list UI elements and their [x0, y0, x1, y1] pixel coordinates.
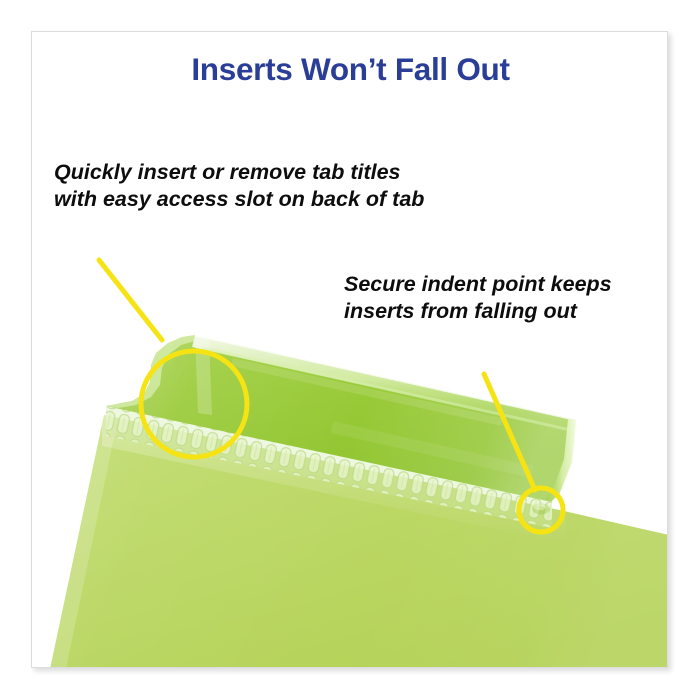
highlight-circle-indent-point	[519, 488, 563, 532]
leader-line-indent-point	[484, 374, 535, 490]
screenshot-canvas: Inserts Won’t Fall Out Quickly insert or…	[0, 0, 700, 700]
highlight-circle-access-slot	[141, 351, 247, 457]
annotation-overlay	[32, 32, 668, 668]
leader-line-access-slot	[99, 260, 162, 340]
annotation-marker-access-slot	[99, 260, 247, 457]
annotation-marker-indent-point	[484, 374, 563, 532]
product-photo-card: Inserts Won’t Fall Out Quickly insert or…	[31, 31, 668, 668]
